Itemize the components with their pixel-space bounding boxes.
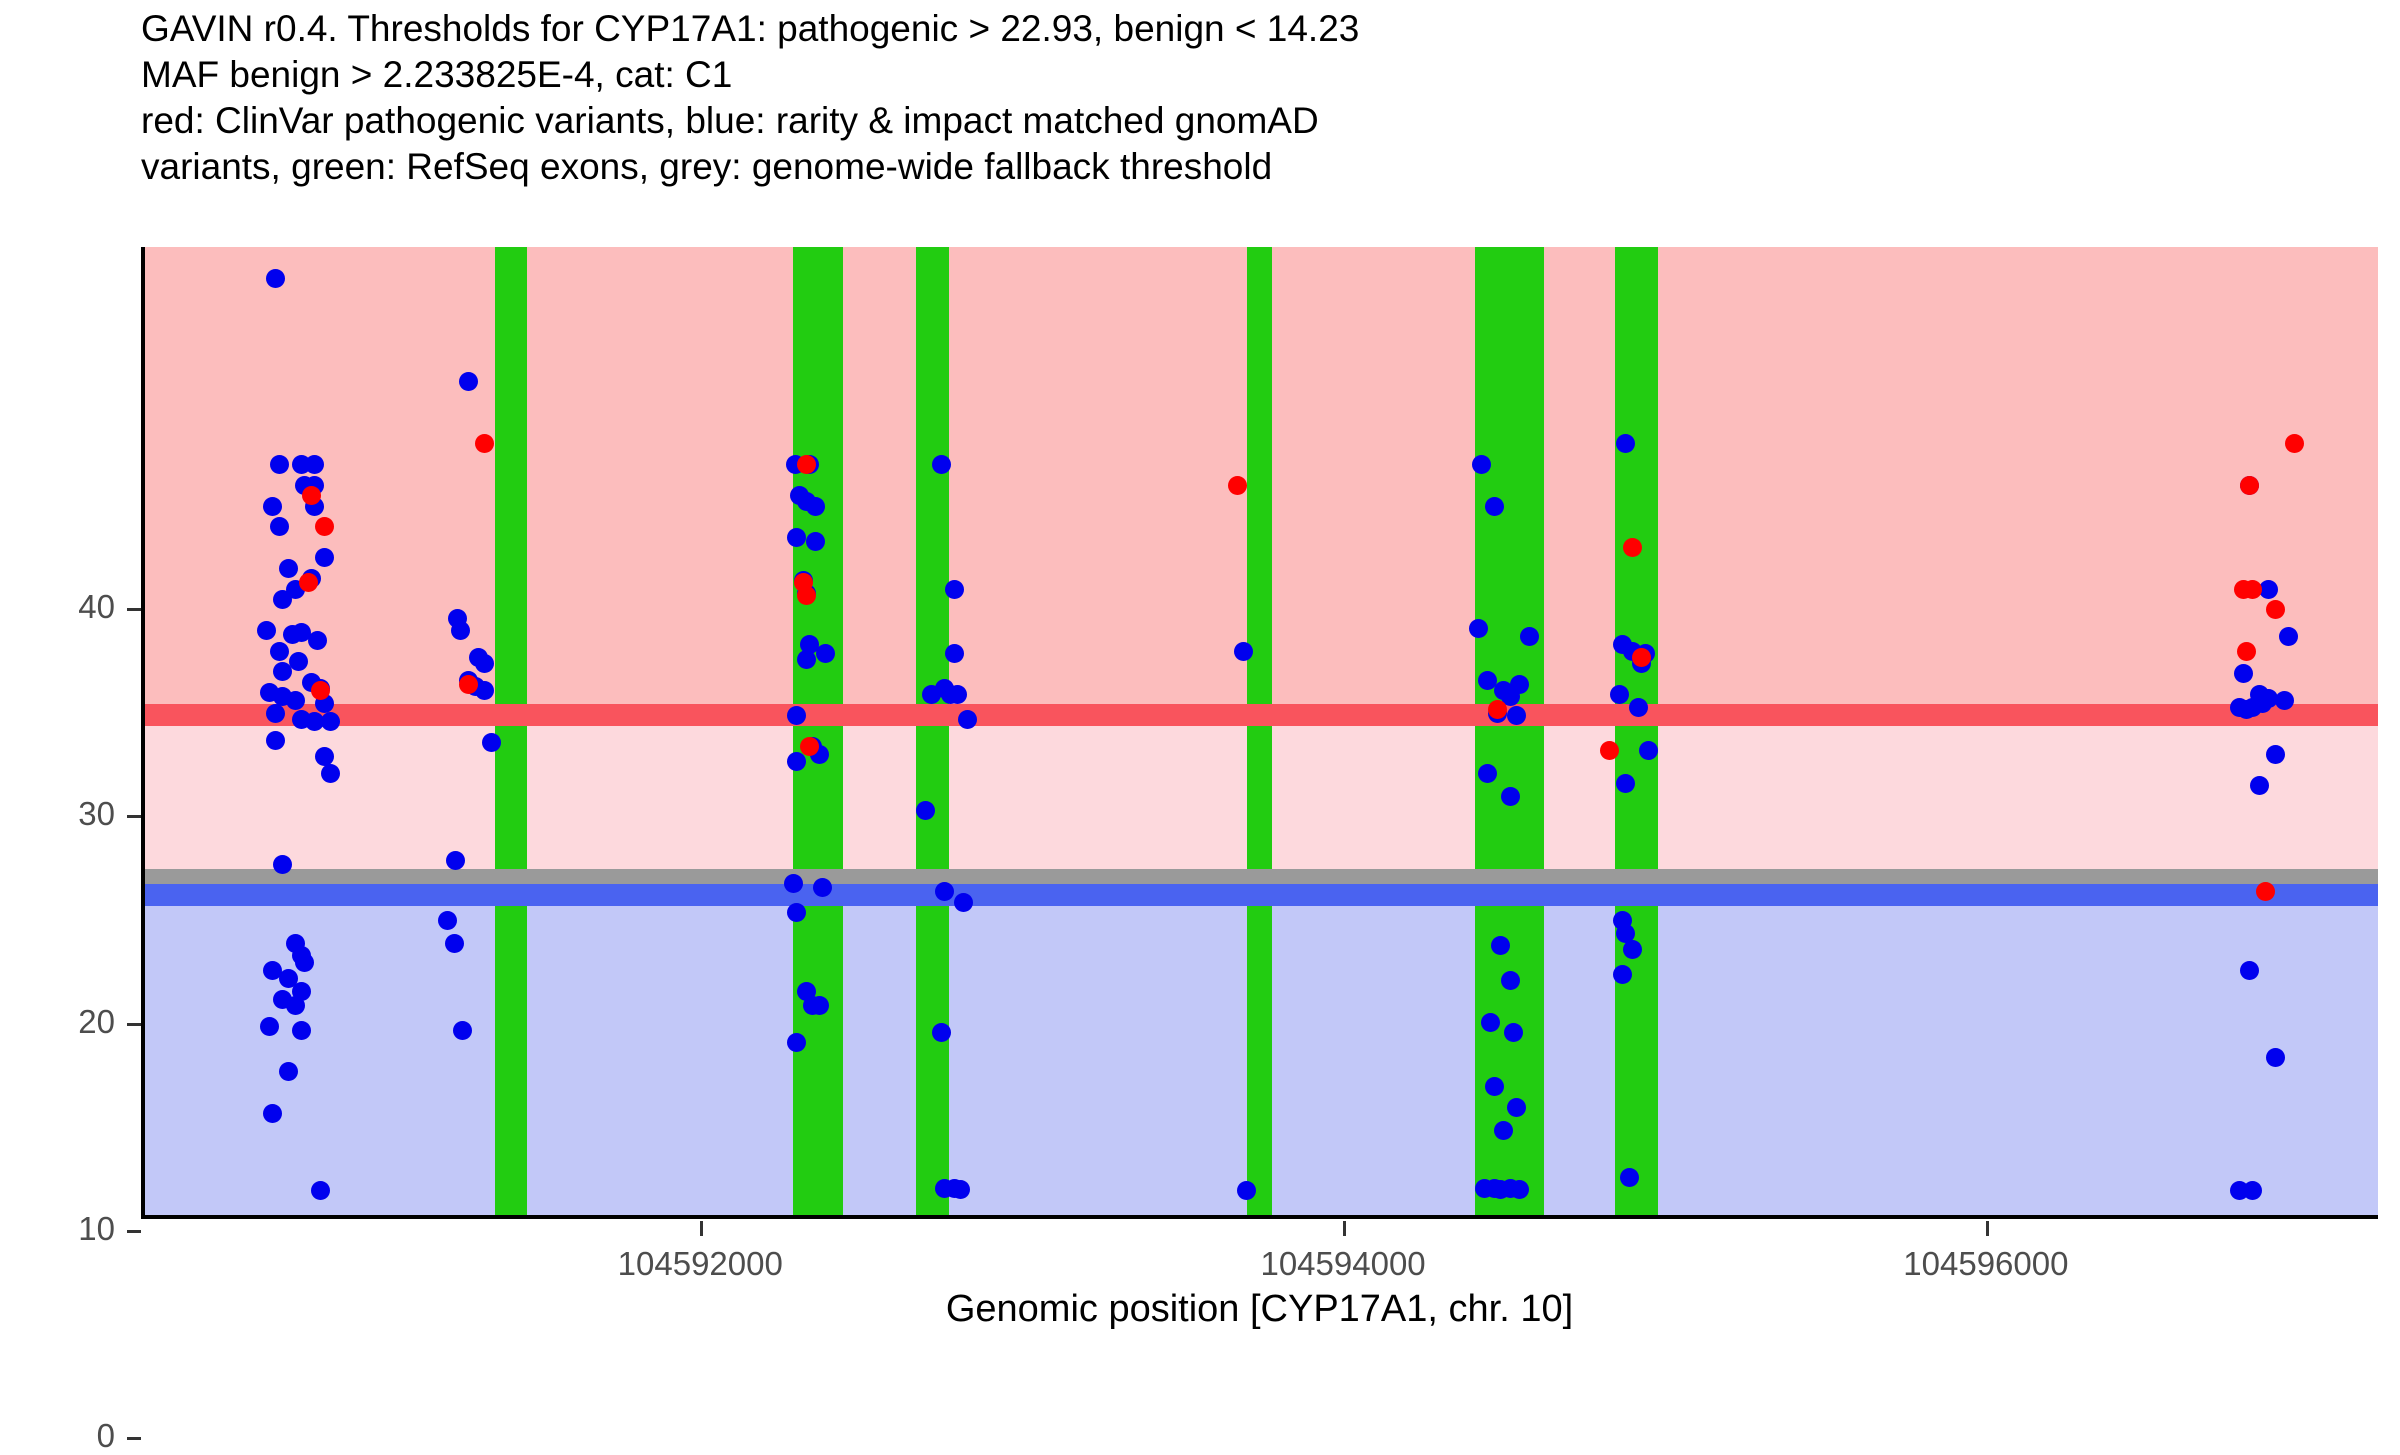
x-tick-mark-104592000 [700, 1221, 703, 1236]
y-tick-label-0: 0 [5, 1417, 115, 1455]
x-tick-label-104592000: 104592000 [550, 1245, 850, 1283]
x-tick-label-104596000: 104596000 [1836, 1245, 2136, 1283]
chart-root: GAVIN r0.4. Thresholds for CYP17A1: path… [0, 0, 2400, 1350]
y-tick-mark-10 [127, 1230, 141, 1233]
title-line-1: GAVIN r0.4. Thresholds for CYP17A1: path… [141, 6, 2371, 52]
y-tick-label-20: 20 [5, 1003, 115, 1041]
x-tick-label-104594000: 104594000 [1193, 1245, 1493, 1283]
x-axis-line [141, 1215, 2378, 1219]
x-tick-mark-104596000 [1986, 1221, 1989, 1236]
y-tick-mark-30 [127, 815, 141, 818]
y-axis-ticks: 010203040 [0, 247, 2400, 1215]
y-tick-label-30: 30 [5, 795, 115, 833]
y-tick-mark-40 [127, 608, 141, 611]
title-line-3: red: ClinVar pathogenic variants, blue: … [141, 98, 2371, 144]
y-tick-label-10: 10 [5, 1210, 115, 1248]
title-line-4: variants, green: RefSeq exons, grey: gen… [141, 144, 2371, 190]
x-axis-title: Genomic position [CYP17A1, chr. 10] [141, 1288, 2378, 1331]
x-tick-mark-104594000 [1343, 1221, 1346, 1236]
y-tick-label-40: 40 [5, 588, 115, 626]
chart-title-block: GAVIN r0.4. Thresholds for CYP17A1: path… [141, 6, 2371, 190]
title-line-2: MAF benign > 2.233825E-4, cat: C1 [141, 52, 2371, 98]
y-tick-mark-20 [127, 1023, 141, 1026]
y-tick-mark-0 [127, 1437, 141, 1440]
